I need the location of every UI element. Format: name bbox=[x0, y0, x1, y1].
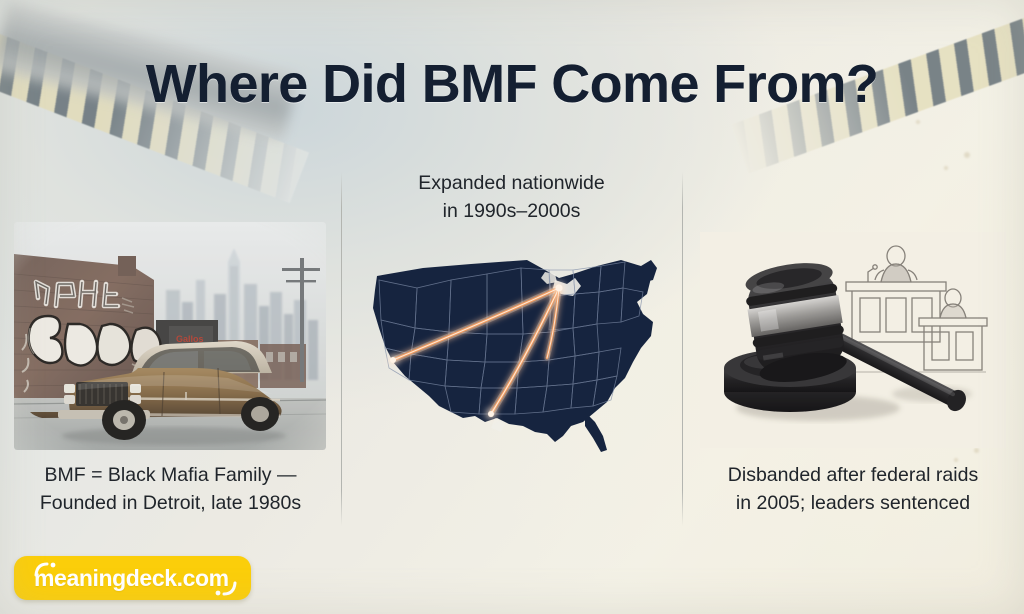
detroit-graffiti-wall-with-classic-car-image: Gallos bbox=[14, 222, 326, 450]
striped-band-bottom-right bbox=[790, 589, 1024, 614]
slide-canvas: Where Did BMF Come From? bbox=[0, 0, 1024, 614]
caption-expansion: Expanded nationwide in 1990s–2000s bbox=[341, 170, 682, 225]
page-title: Where Did BMF Come From? bbox=[0, 56, 1024, 113]
caption-expansion-line1: Expanded nationwide bbox=[377, 170, 646, 198]
usa-landmass bbox=[373, 260, 657, 452]
caption-origin-line2: Founded in Detroit, late 1980s bbox=[18, 490, 323, 518]
paper-speck bbox=[964, 152, 970, 158]
caption-downfall: Disbanded after federal raids in 2005; l… bbox=[682, 462, 1024, 517]
caption-downfall-line2: in 2005; leaders sentenced bbox=[696, 490, 1010, 518]
paper-speck bbox=[916, 120, 920, 124]
paper-speck bbox=[974, 448, 979, 453]
caption-origin-line1: BMF = Black Mafia Family — bbox=[18, 462, 323, 490]
meaningdeck-logo-text: meaningdeck.com bbox=[34, 567, 229, 590]
judge-gavel-with-courtroom-sketch-image bbox=[700, 232, 1006, 448]
caption-expansion-line2: in 1990s–2000s bbox=[377, 198, 646, 226]
united-states-map-with-expansion-routes-image bbox=[359, 236, 665, 464]
meaningdeck-logo-badge[interactable]: meaningdeck.com bbox=[14, 556, 251, 600]
paper-speck bbox=[944, 166, 948, 170]
caption-origin: BMF = Black Mafia Family — Founded in De… bbox=[0, 462, 341, 517]
caption-downfall-line1: Disbanded after federal raids bbox=[696, 462, 1010, 490]
